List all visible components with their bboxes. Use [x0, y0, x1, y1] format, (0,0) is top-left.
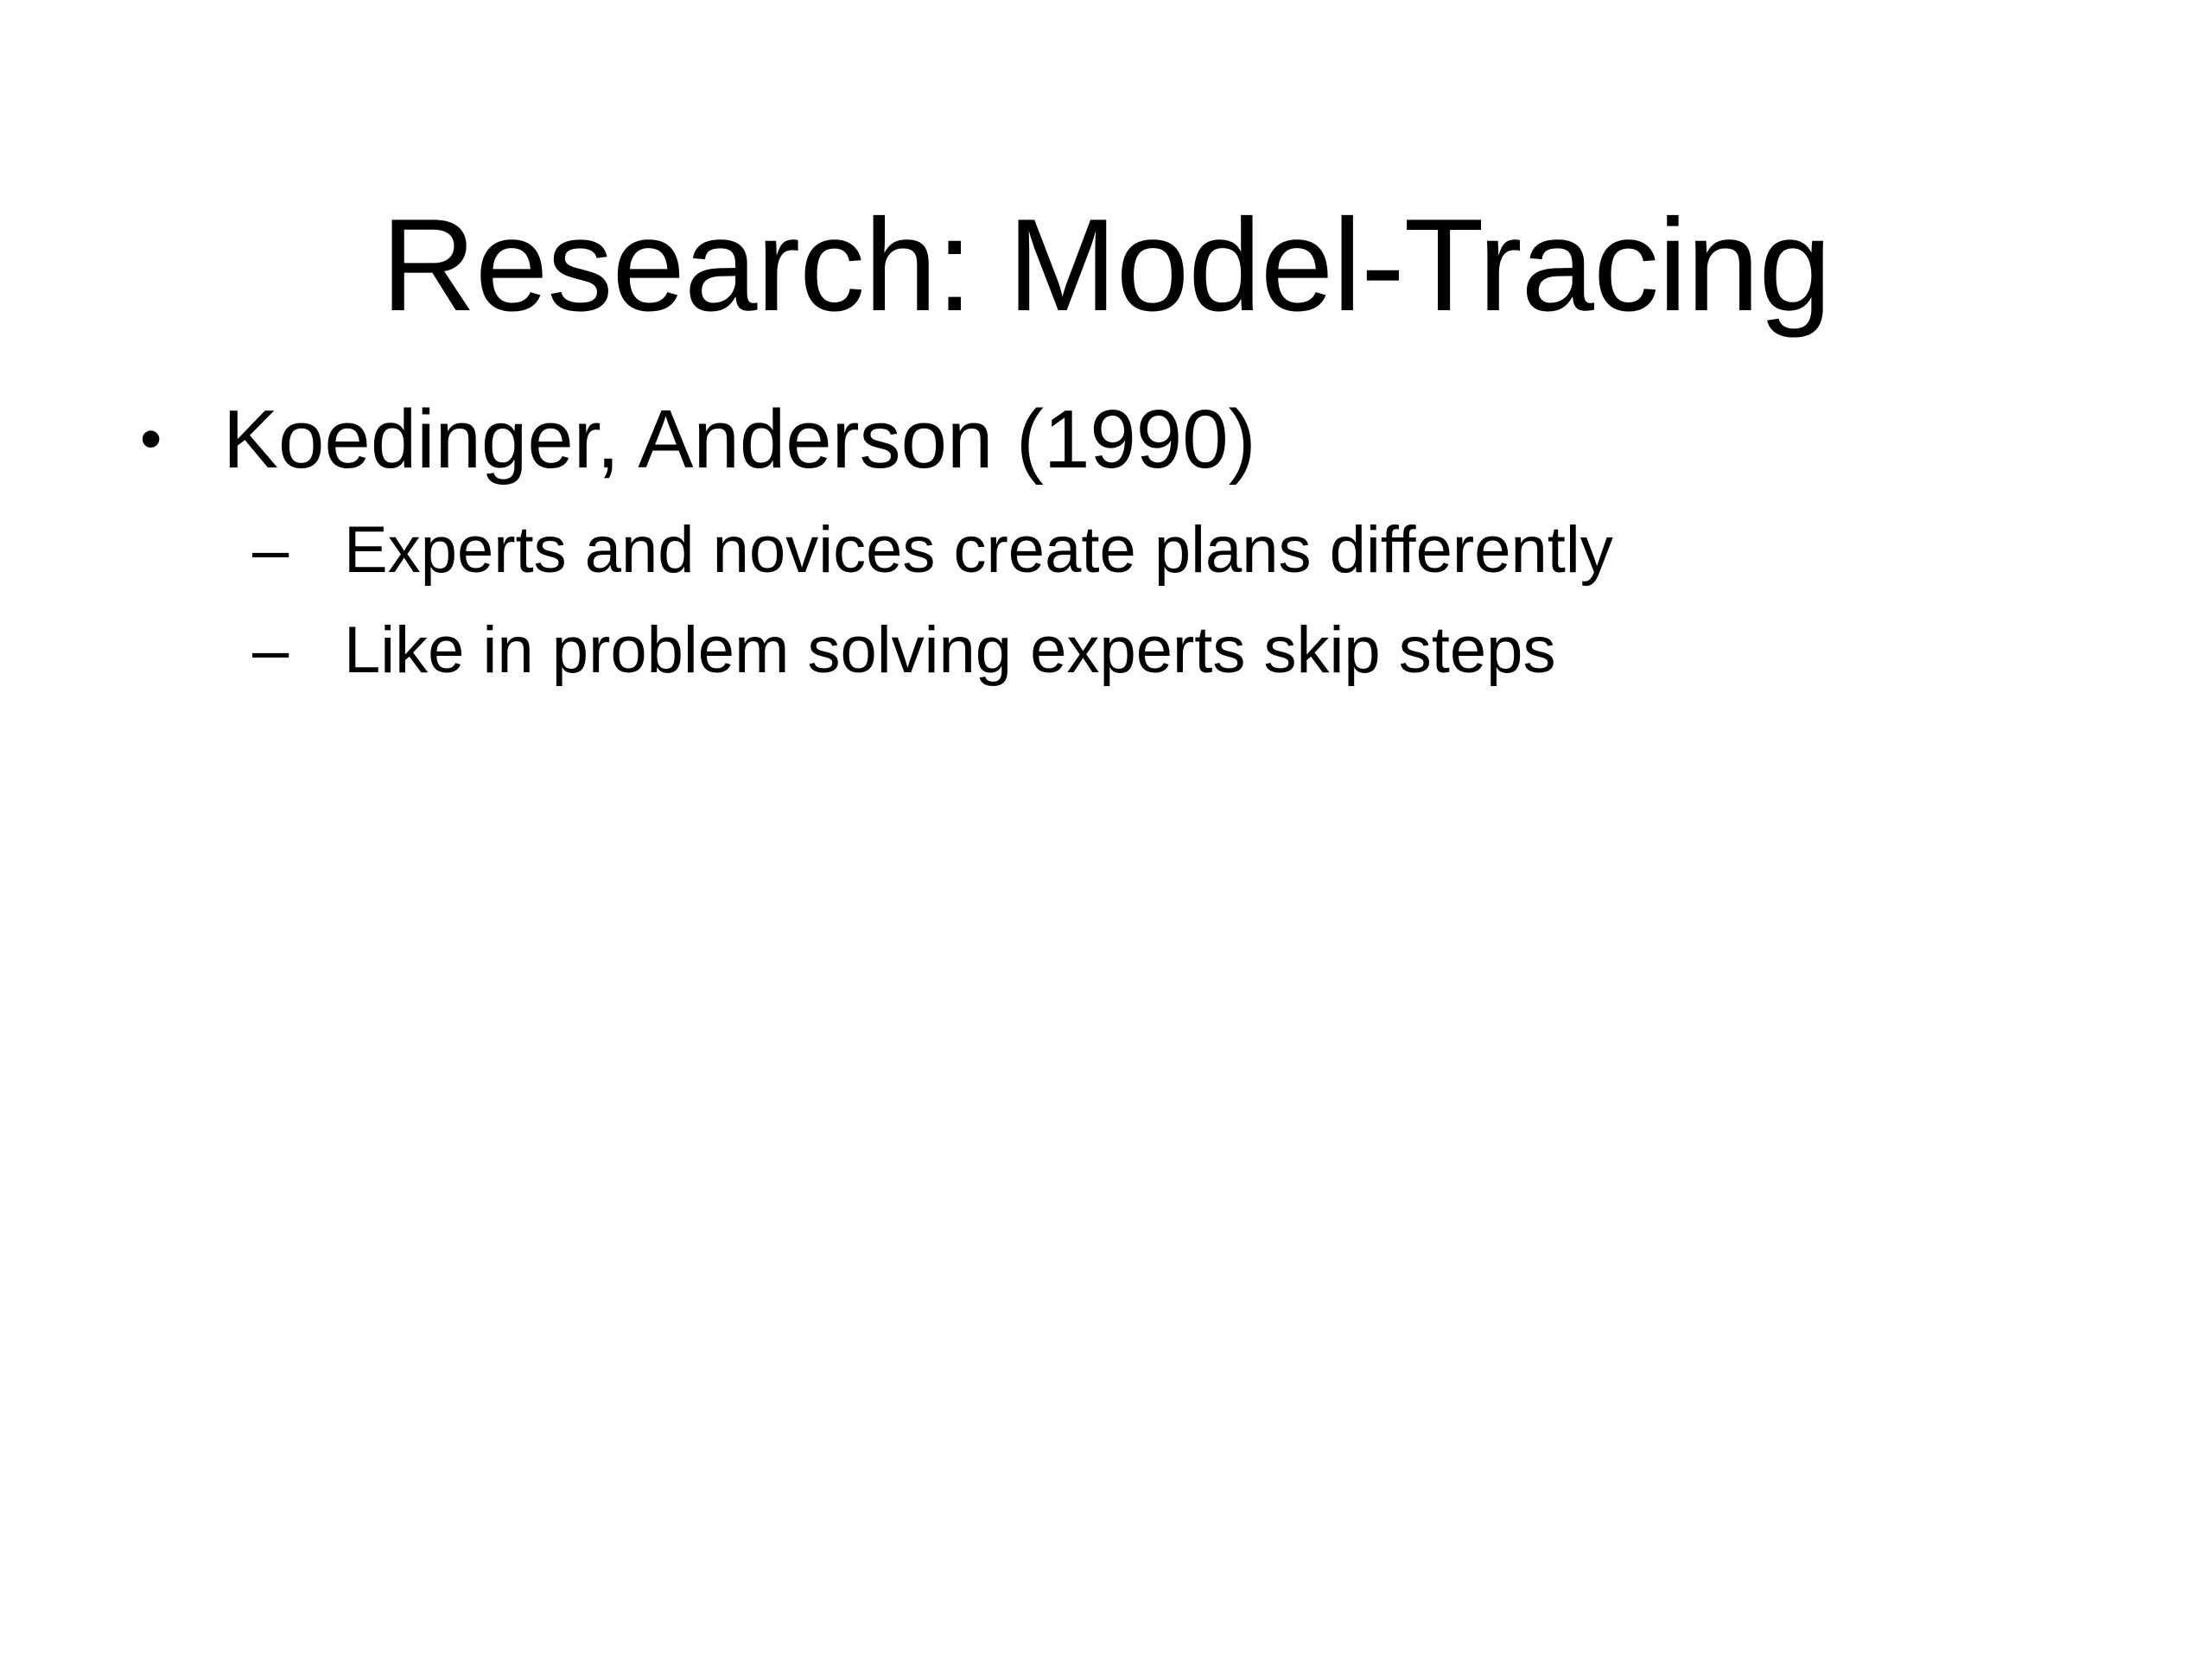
- page-title: Research: Model-Tracing: [381, 192, 1831, 339]
- slide-body-block: • Koedinger, Anderson (1990) – Experts a…: [130, 387, 2117, 705]
- bullet-list-level-1: • Koedinger, Anderson (1990) – Experts a…: [130, 387, 2117, 700]
- bullet-text: Koedinger, Anderson (1990): [223, 393, 1256, 486]
- bullet-list-level-2: – Experts and novices create plans diffe…: [223, 502, 2117, 700]
- bullet-dash-icon: –: [252, 502, 313, 599]
- list-item: – Experts and novices create plans diffe…: [247, 502, 2117, 599]
- list-item: – Like in problem solving experts skip s…: [247, 602, 2117, 699]
- bullet-disc-icon: •: [140, 387, 195, 492]
- sub-bullet-text: Like in problem solving experts skip ste…: [344, 613, 1555, 687]
- sub-bullet-text: Experts and novices create plans differe…: [344, 513, 1613, 587]
- list-item: • Koedinger, Anderson (1990) – Experts a…: [130, 387, 2117, 700]
- bullet-dash-icon: –: [252, 602, 313, 699]
- presentation-slide: Research: Model-Tracing • Koedinger, And…: [0, 0, 2212, 1659]
- slide-title-block: Research: Model-Tracing: [0, 104, 2212, 427]
